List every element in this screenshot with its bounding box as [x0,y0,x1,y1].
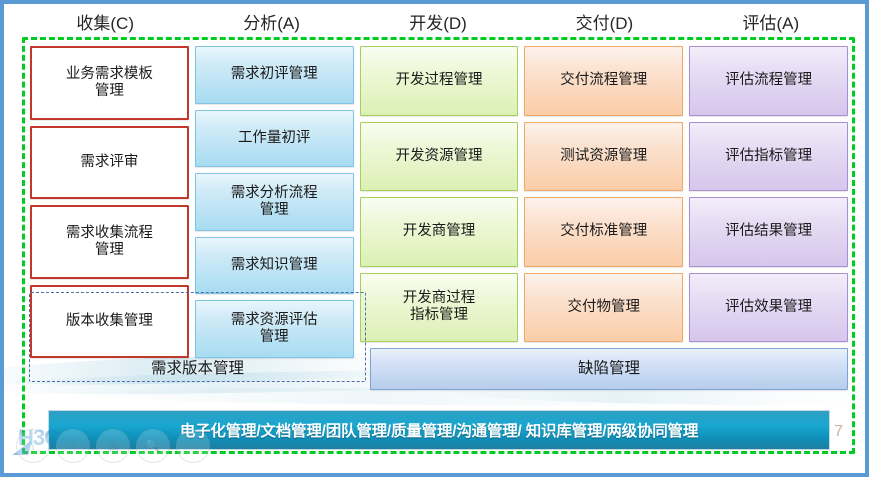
matrix-column-analyze: 需求初评管理工作量初评需求分析流程 管理需求知识管理需求资源评估 管理 [195,46,354,390]
capability-matrix: 业务需求模板 管理需求评审需求收集流程 管理版本收集管理需求初评管理工作量初评需… [30,46,848,390]
column-header-deliver: 交付(D) [521,12,687,38]
matrix-cell-develop-2[interactable]: 开发资源管理 [360,122,519,192]
matrix-cell-develop-4[interactable]: 开发商过程 指标管理 [360,273,519,343]
matrix-cell-evaluate-3[interactable]: 评估结果管理 [689,197,848,267]
matrix-cell-analyze-1[interactable]: 需求初评管理 [195,46,354,104]
column-header-analyze: 分析(A) [188,12,354,38]
matrix-cell-collect-4[interactable]: 版本收集管理 [30,285,189,359]
version-management-group-label: 需求版本管理 [29,354,366,380]
matrix-cell-develop-3[interactable]: 开发商管理 [360,197,519,267]
support-services-banner: 电子化管理/文档管理/团队管理/质量管理/沟通管理/ 知识库管理/两级协同管理 [48,410,830,450]
column-header-develop: 开发(D) [355,12,521,38]
defect-bar-row: 缺陷管理 [370,348,848,390]
matrix-cell-collect-3[interactable]: 需求收集流程 管理 [30,205,189,279]
matrix-cell-evaluate-1[interactable]: 评估流程管理 [689,46,848,116]
matrix-cell-develop-1[interactable]: 开发过程管理 [360,46,519,116]
matrix-cell-deliver-4[interactable]: 交付物管理 [524,273,683,343]
column-header-row: 收集(C)分析(A)开发(D)交付(D)评估(A) [22,12,854,38]
matrix-cell-analyze-5[interactable]: 需求资源评估 管理 [195,300,354,358]
matrix-column-collect: 业务需求模板 管理需求评审需求收集流程 管理版本收集管理 [30,46,189,390]
matrix-cell-collect-1[interactable]: 业务需求模板 管理 [30,46,189,120]
matrix-cell-evaluate-2[interactable]: 评估指标管理 [689,122,848,192]
slide-frame: 收集(C)分析(A)开发(D)交付(D)评估(A) 业务需求模板 管理需求评审需… [0,0,869,477]
matrix-cell-deliver-3[interactable]: 交付标准管理 [524,197,683,267]
matrix-cell-deliver-1[interactable]: 交付流程管理 [524,46,683,116]
matrix-cell-analyze-2[interactable]: 工作量初评 [195,110,354,168]
matrix-cell-analyze-4[interactable]: 需求知识管理 [195,237,354,295]
matrix-cell-collect-2[interactable]: 需求评审 [30,126,189,200]
page-number: 7 [834,423,843,441]
column-header-collect: 收集(C) [22,12,188,38]
matrix-column-evaluate: 评估流程管理评估指标管理评估结果管理评估效果管理 [689,46,848,390]
matrix-cell-evaluate-4[interactable]: 评估效果管理 [689,273,848,343]
column-header-evaluate: 评估(A) [688,12,854,38]
matrix-cell-analyze-3[interactable]: 需求分析流程 管理 [195,173,354,231]
matrix-cell-deliver-2[interactable]: 测试资源管理 [524,122,683,192]
matrix-column-deliver: 交付流程管理测试资源管理交付标准管理交付物管理 [524,46,683,390]
matrix-column-develop: 开发过程管理开发资源管理开发商管理开发商过程 指标管理 [360,46,519,390]
defect-management-cell[interactable]: 缺陷管理 [370,348,848,390]
